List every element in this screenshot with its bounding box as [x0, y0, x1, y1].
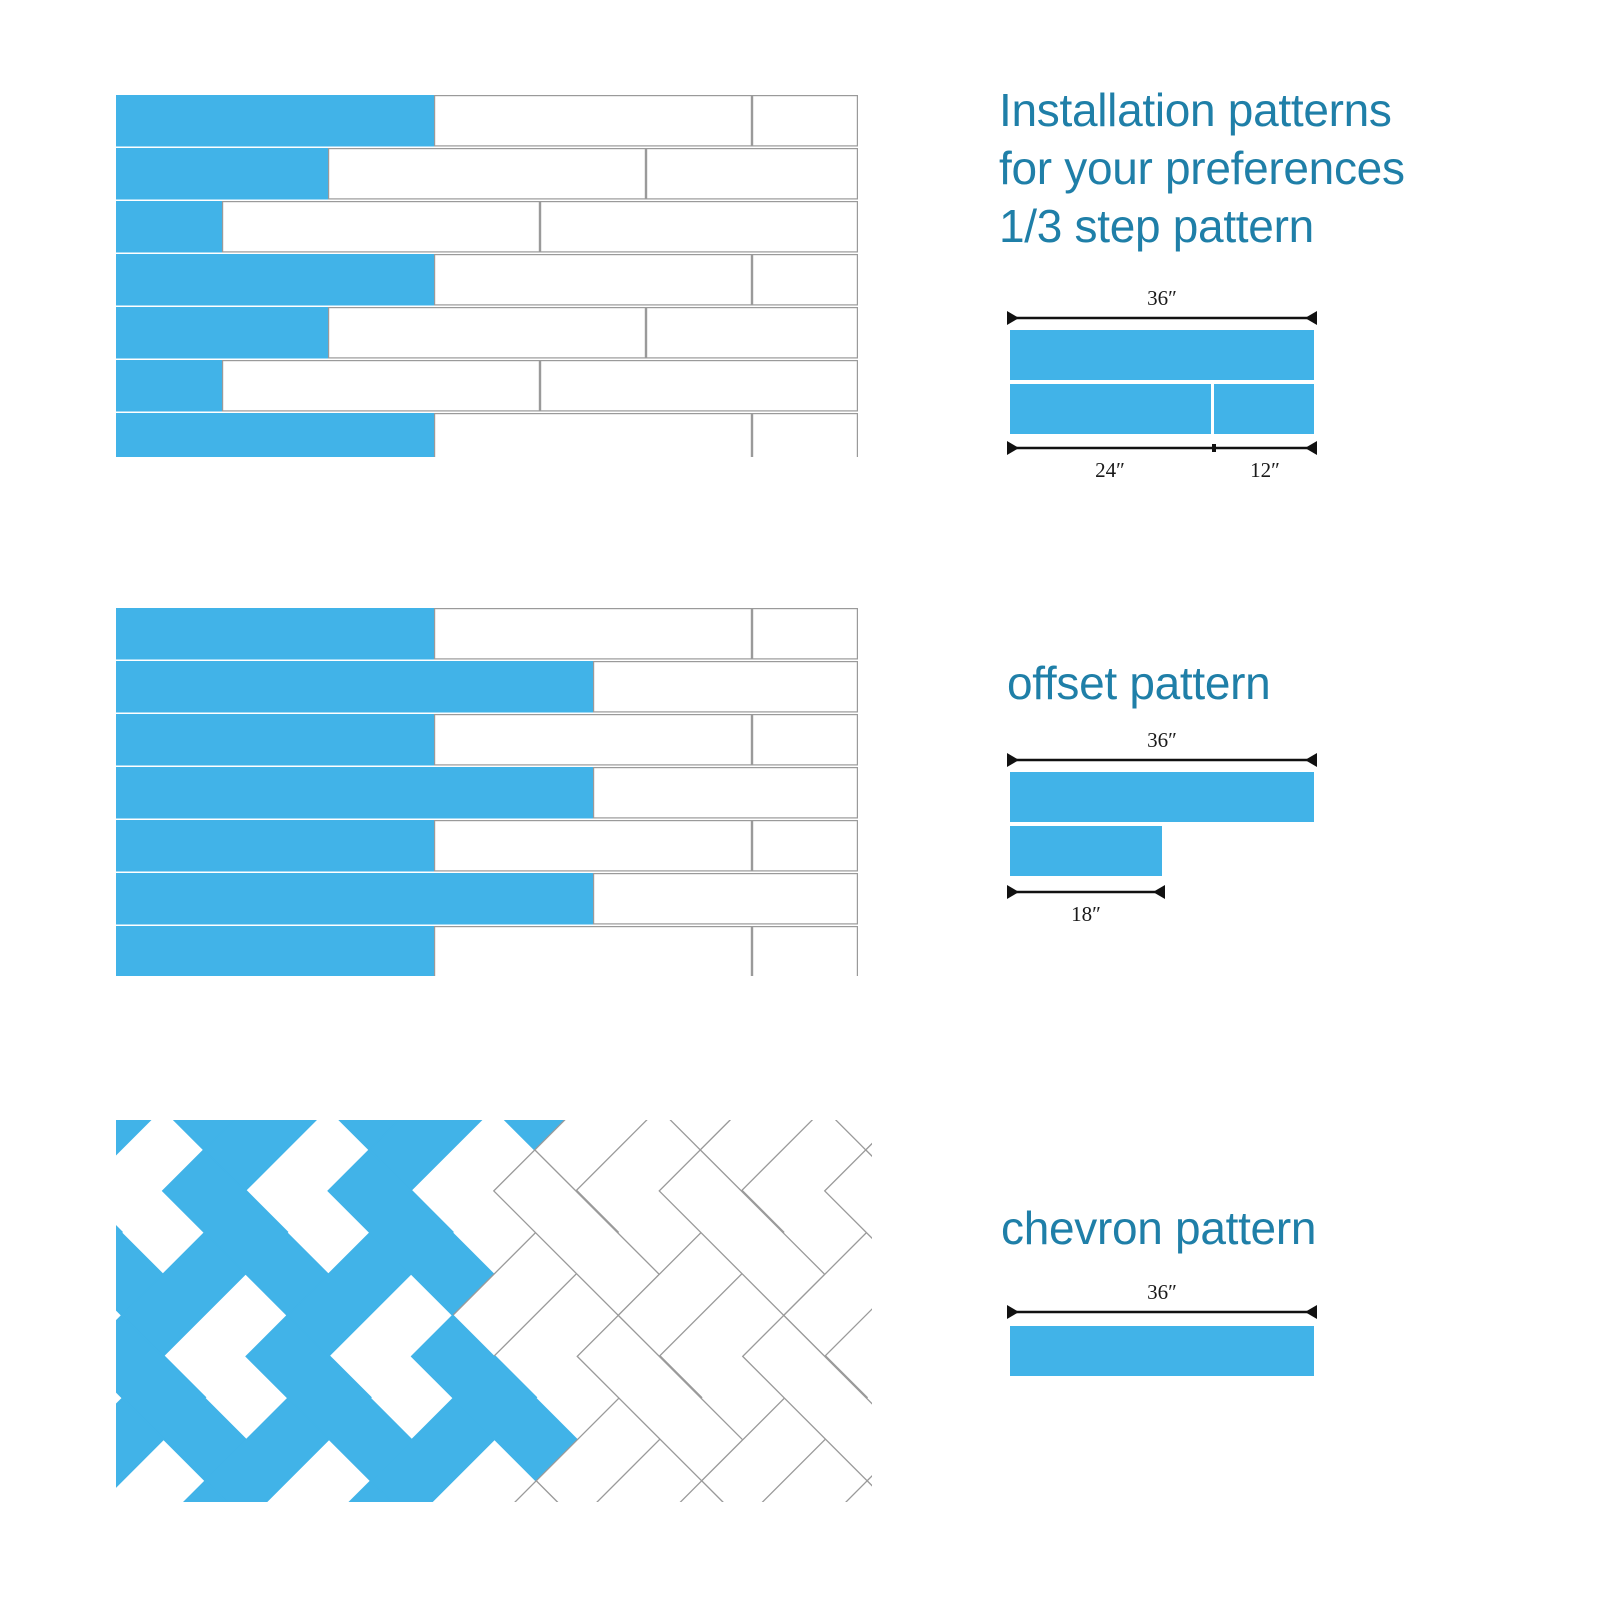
tile-step [223, 361, 540, 411]
tile-offset [117, 715, 434, 765]
tile-step [753, 414, 858, 457]
step-legend-top-dimension-label: 36″ [1147, 288, 1177, 310]
tile-offset [117, 609, 434, 659]
tile-offset [117, 927, 434, 976]
step-pattern-illustration [116, 95, 858, 457]
step-legend-svg: 36″ 24″ 12″ [995, 288, 1355, 498]
tile-offset [117, 768, 275, 818]
chevron-pattern-svg [116, 1120, 872, 1502]
tile-step [647, 149, 858, 199]
chevron-legend-svg: 36″ [995, 1282, 1355, 1402]
step-legend-top-dimension-line [1007, 311, 1317, 325]
tile-step [753, 255, 858, 305]
tile-step [435, 255, 752, 305]
step-pattern-legend: 36″ 24″ 12″ [995, 288, 1355, 498]
offset-pattern-legend: 36″ 18″ [995, 730, 1355, 930]
offset-legend-top-dimension-line [1007, 753, 1317, 767]
tile-offset [117, 874, 275, 924]
tile-offset [435, 609, 752, 659]
chevron-pattern-illustration [116, 1120, 872, 1502]
page-canvas: Installation patterns for your preferenc… [0, 0, 1600, 1600]
offset-legend-tile-18 [1010, 826, 1162, 876]
tile-offset [753, 821, 858, 871]
tile-step [117, 96, 434, 146]
chevron-pattern-legend: 36″ [995, 1282, 1355, 1402]
tile-offset [276, 768, 593, 818]
offset-legend-top-dimension-label: 36″ [1147, 730, 1177, 752]
tile-offset [594, 874, 858, 924]
offset-legend-dimension-18-label: 18″ [1071, 902, 1101, 926]
tile-offset [435, 927, 752, 976]
step-legend-dimension-24-label: 24″ [1095, 458, 1125, 482]
tile-step [117, 361, 222, 411]
offset-legend-svg: 36″ 18″ [995, 730, 1355, 930]
tile-step [117, 202, 222, 252]
offset-pattern-title: offset pattern [1007, 655, 1270, 713]
tile-step [117, 414, 434, 457]
offset-pattern-illustration [116, 608, 858, 976]
page-title: Installation patterns for your preferenc… [999, 82, 1405, 256]
chevron-legend-tile-full [1010, 1326, 1314, 1376]
tile-chevron [826, 1481, 872, 1502]
tile-step [223, 202, 540, 252]
tile-offset [594, 662, 858, 712]
tile-offset [435, 821, 752, 871]
tile-offset [753, 609, 858, 659]
tile-offset [594, 768, 858, 818]
tile-offset [276, 662, 593, 712]
step-legend-tile-12 [1214, 384, 1314, 434]
chevron-legend-dimension-line [1007, 1305, 1317, 1319]
tile-step [435, 414, 752, 457]
title-line-2: for your preferences [999, 142, 1405, 194]
chevron-legend-top-dimension-label: 36″ [1147, 1282, 1177, 1304]
tile-offset [117, 662, 275, 712]
tile-step [117, 308, 328, 358]
step-legend-tile-full [1010, 330, 1314, 380]
tile-step [647, 308, 858, 358]
step-legend-bottom-dimension-line [1007, 441, 1317, 455]
tile-step [541, 361, 858, 411]
tile-chevron [116, 1481, 164, 1502]
tile-step [329, 308, 646, 358]
tile-offset [117, 821, 434, 871]
offset-legend-tile-full [1010, 772, 1314, 822]
step-legend-tile-24 [1010, 384, 1211, 434]
step-pattern-svg [116, 95, 858, 457]
tile-step [435, 96, 752, 146]
chevron-pattern-title: chevron pattern [1001, 1200, 1316, 1258]
title-line-3: 1/3 step pattern [999, 200, 1314, 252]
tile-offset [753, 927, 858, 976]
title-line-1: Installation patterns [999, 84, 1392, 136]
tile-step [329, 149, 646, 199]
tile-step [117, 255, 434, 305]
tile-offset [435, 715, 752, 765]
tile-offset [753, 715, 858, 765]
tile-offset [276, 874, 593, 924]
tile-step [541, 202, 858, 252]
offset-pattern-svg [116, 608, 858, 976]
tile-step [753, 96, 858, 146]
offset-legend-bottom-dimension-line [1007, 885, 1165, 899]
step-legend-dimension-12-label: 12″ [1250, 458, 1280, 482]
tile-step [117, 149, 328, 199]
